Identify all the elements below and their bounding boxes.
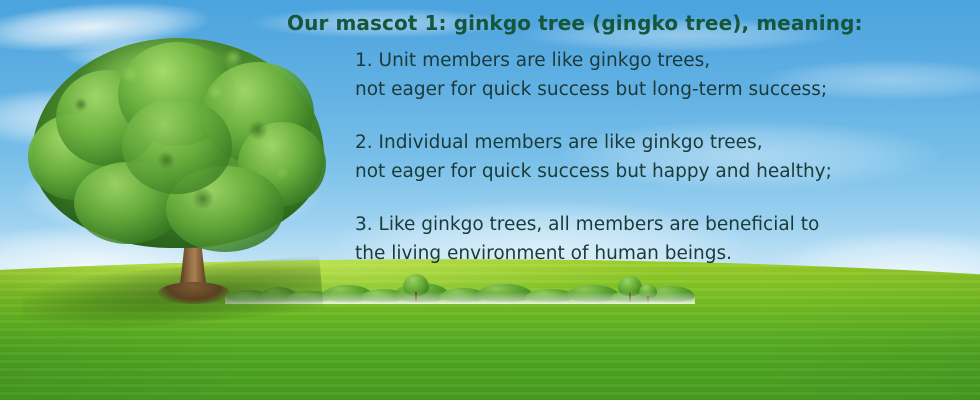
cloud-icon [0, 88, 190, 148]
list-item-line: the living environment of human beings. [355, 239, 955, 268]
cloud-icon [0, 0, 211, 58]
list-item-line: 3. Like ginkgo trees, all members are be… [355, 210, 955, 239]
cloud-icon [20, 150, 320, 240]
list-item-line: 2. Individual members are like ginkgo tr… [355, 128, 955, 157]
list-item-line: 1. Unit members are like ginkgo trees, [355, 46, 955, 75]
page-title: Our mascot 1: ginkgo tree (gingko tree),… [287, 11, 863, 35]
list-item-line: not eager for quick success but long-ter… [355, 75, 955, 104]
mascot-meaning-list: 1. Unit members are like ginkgo trees, n… [355, 46, 955, 268]
list-item: 1. Unit members are like ginkgo trees, n… [355, 46, 955, 104]
cloud-icon [60, 38, 250, 72]
list-item: 2. Individual members are like ginkgo tr… [355, 128, 955, 186]
list-item-line: not eager for quick success but happy an… [355, 157, 955, 186]
mascot-banner: Our mascot 1: ginkgo tree (gingko tree),… [0, 0, 980, 400]
list-item: 3. Like ginkgo trees, all members are be… [355, 210, 955, 268]
